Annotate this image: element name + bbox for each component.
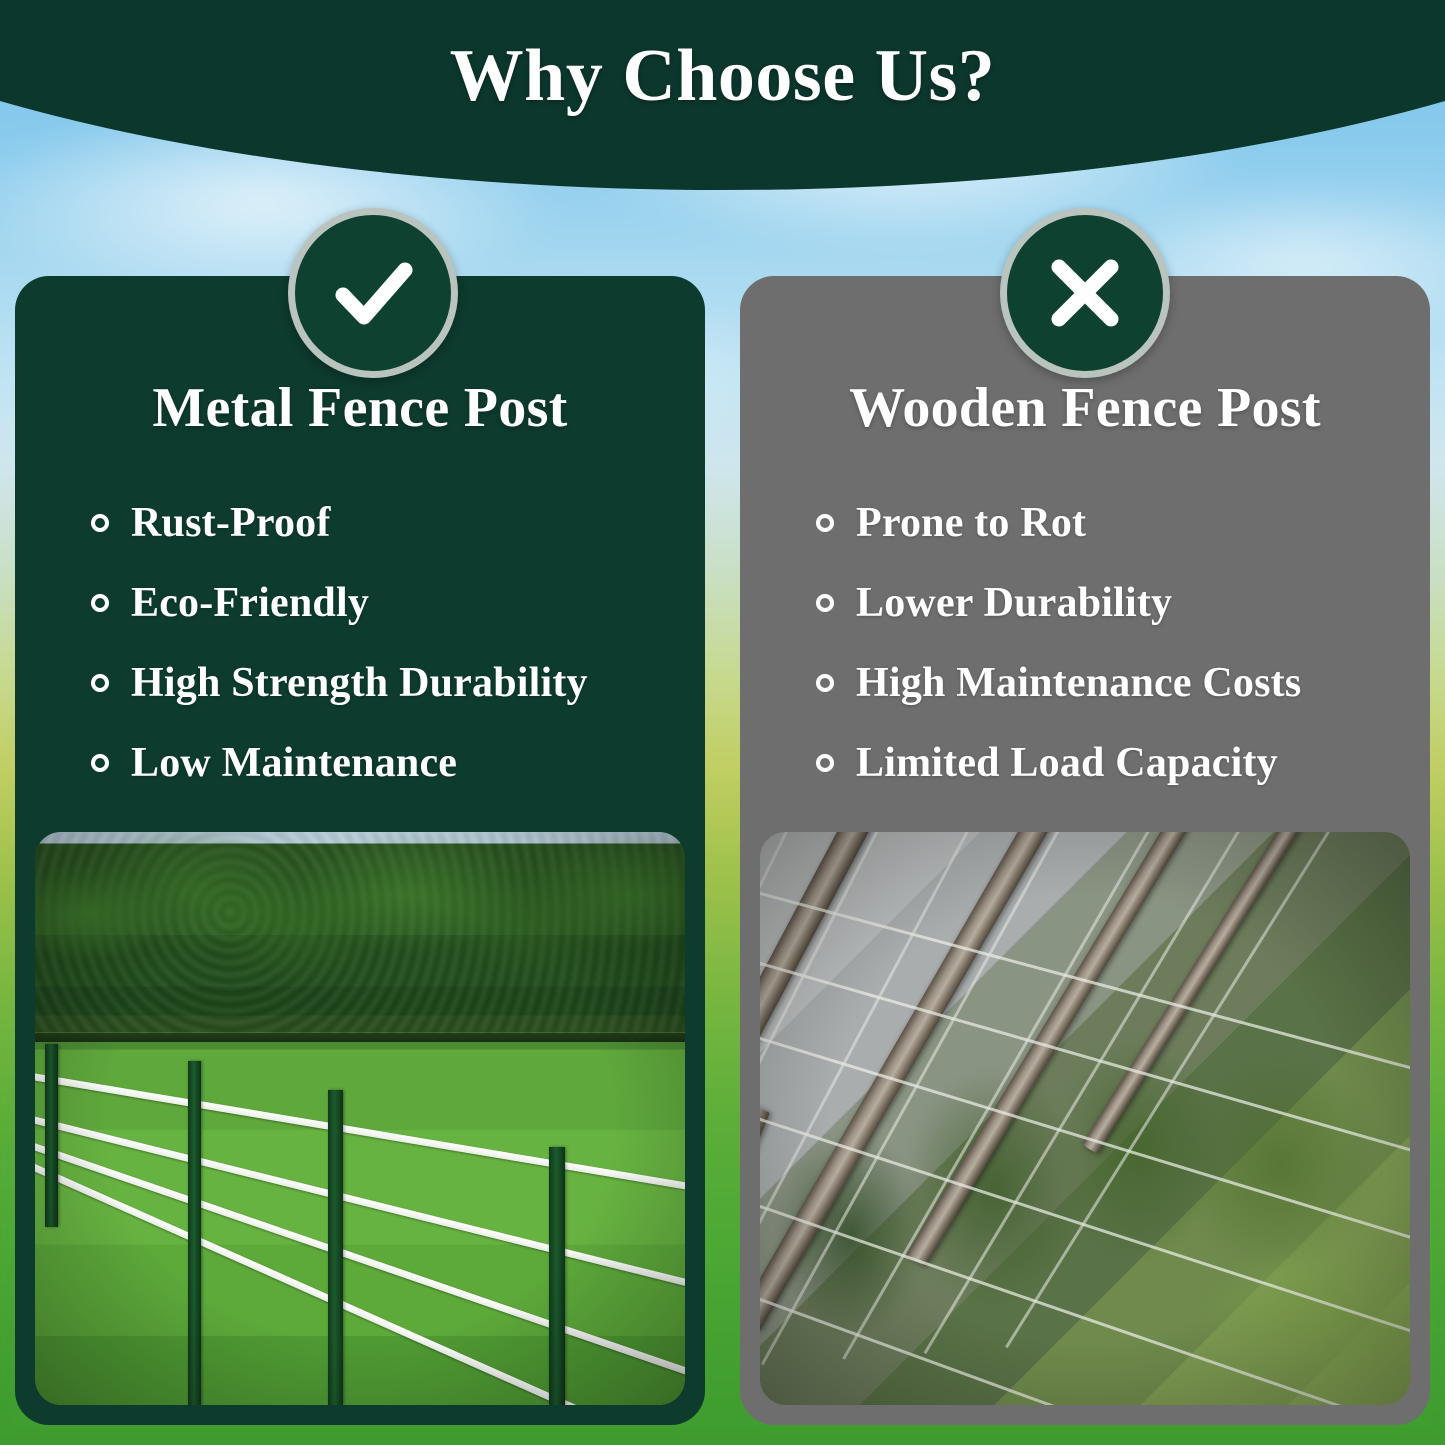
metal-t-post [188,1061,201,1405]
feature-label: Eco-Friendly [131,579,369,627]
metal-t-post [328,1090,343,1405]
feature-label: Prone to Rot [856,499,1086,547]
list-item: Low Maintenance [91,723,675,803]
metal-fence-post-card[interactable]: Metal Fence Post Rust-Proof Eco-Friendly… [15,276,705,1425]
cross-badge [1000,208,1170,378]
wooden-fence-post-photo [760,832,1410,1405]
list-item: High Maintenance Costs [816,643,1400,723]
fence-wire [35,1067,685,1211]
metal-fence-post-photo [35,832,685,1405]
check-icon [321,241,425,345]
bullet-ring-icon [816,754,834,772]
wooden-feature-list: Prone to Rot Lower Durability High Maint… [816,483,1400,803]
far-fence-rail [35,1033,685,1042]
list-item: Eco-Friendly [91,563,675,643]
list-item: Prone to Rot [816,483,1400,563]
feature-label: Limited Load Capacity [856,739,1278,787]
feature-label: High Strength Durability [131,659,588,707]
wooden-card-heading: Wooden Fence Post [740,376,1430,440]
bullet-ring-icon [816,594,834,612]
bullet-ring-icon [91,674,109,692]
bullet-ring-icon [91,514,109,532]
feature-label: Lower Durability [856,579,1172,627]
treeline [35,832,685,1033]
feature-label: Low Maintenance [131,739,457,787]
feature-label: High Maintenance Costs [856,659,1301,707]
bullet-ring-icon [816,514,834,532]
bullet-ring-icon [91,754,109,772]
metal-t-post [549,1147,565,1405]
bullet-ring-icon [91,594,109,612]
list-item: High Strength Durability [91,643,675,723]
metal-feature-list: Rust-Proof Eco-Friendly High Strength Du… [91,483,675,803]
metal-card-heading: Metal Fence Post [15,376,705,440]
feature-label: Rust-Proof [131,499,331,547]
list-item: Lower Durability [816,563,1400,643]
list-item: Rust-Proof [91,483,675,563]
metal-t-post [45,1044,58,1227]
comparison-columns: Metal Fence Post Rust-Proof Eco-Friendly… [0,0,1445,1445]
comparison-infographic: Why Choose Us? Metal Fence Post Rust-Pro… [0,0,1445,1445]
wooden-fence-post-card[interactable]: Wooden Fence Post Prone to Rot Lower Dur… [740,276,1430,1425]
close-icon [1033,241,1137,345]
bullet-ring-icon [816,674,834,692]
list-item: Limited Load Capacity [816,723,1400,803]
check-badge [288,208,458,378]
fence-wire [35,1147,685,1405]
